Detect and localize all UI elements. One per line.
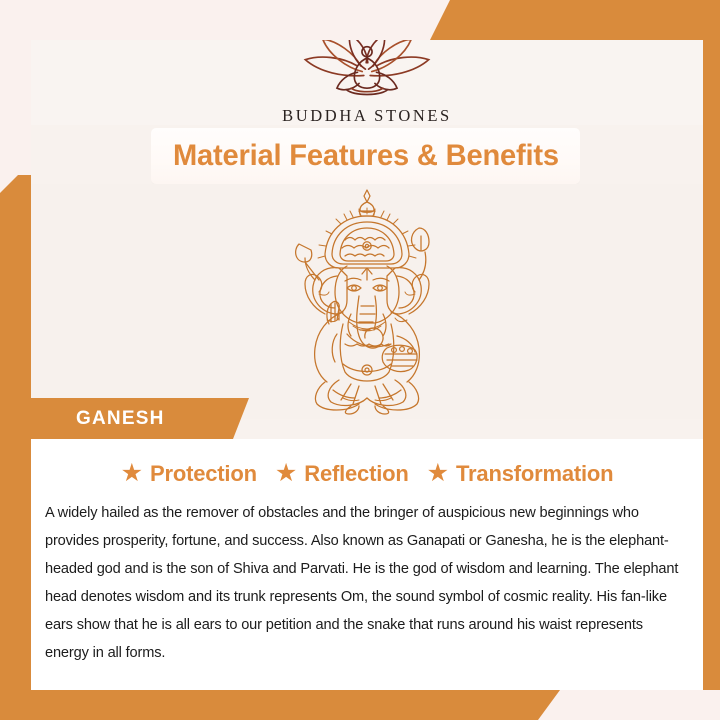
- decorative-band-top: [430, 0, 720, 40]
- feature-item: ★ Transformation: [427, 461, 614, 487]
- star-icon: ★: [427, 461, 449, 486]
- star-icon: ★: [121, 461, 143, 486]
- feature-item: ★ Reflection: [275, 461, 409, 487]
- decorative-band-bottom: [0, 690, 560, 720]
- feature-item: ★ Protection: [121, 461, 257, 487]
- feature-label: Protection: [150, 461, 257, 487]
- poster-root: BUDDHA STONES Material Features & Benefi…: [0, 0, 720, 720]
- ganesha-line-art-icon: [247, 184, 487, 416]
- feature-label: Transformation: [456, 461, 613, 487]
- poster-card: BUDDHA STONES Material Features & Benefi…: [31, 40, 703, 690]
- brand-logo: BUDDHA STONES: [31, 40, 703, 126]
- feature-label: Reflection: [304, 461, 408, 487]
- decorative-band-right: [703, 0, 720, 690]
- feature-list: ★ Protection ★ Reflection ★ Transformati…: [37, 461, 697, 487]
- section-label: GANESH: [76, 408, 165, 430]
- title-banner: Material Features & Benefits: [151, 128, 580, 184]
- brand-name: BUDDHA STONES: [282, 106, 452, 126]
- content-panel: ★ Protection ★ Reflection ★ Transformati…: [31, 439, 703, 690]
- lotus-meditation-icon: [287, 40, 447, 104]
- page-title: Material Features & Benefits: [173, 139, 559, 173]
- star-icon: ★: [275, 461, 297, 486]
- section-label-banner: GANESH: [31, 398, 249, 439]
- hero-illustration: [31, 184, 703, 419]
- decorative-band-left: [0, 175, 31, 720]
- description-text: A widely hailed as the remover of obstac…: [45, 499, 689, 667]
